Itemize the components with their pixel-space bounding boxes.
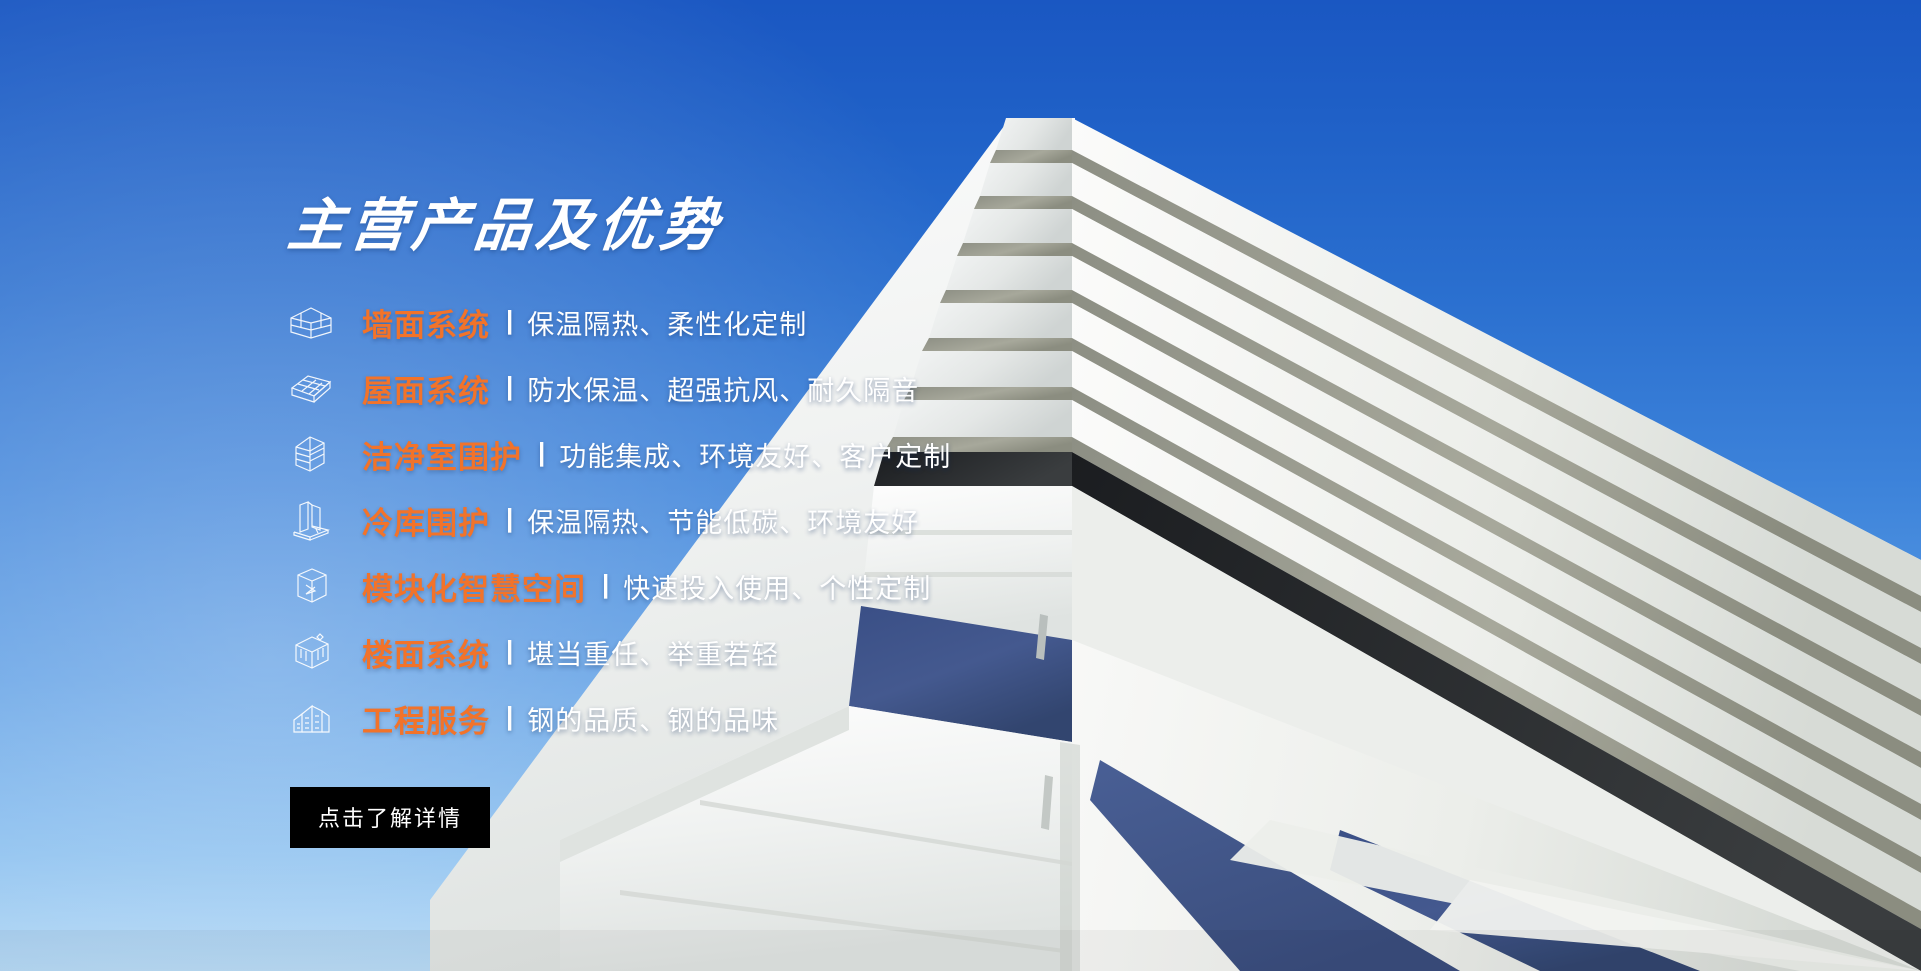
- floor-system-icon: [288, 629, 334, 675]
- feature-separator: |: [506, 371, 513, 402]
- feature-item-cold-storage[interactable]: 冷库围护 | 保温隔热、节能低碳、环境友好: [288, 487, 1288, 553]
- feature-name: 楼面系统: [362, 630, 490, 675]
- feature-separator: |: [506, 305, 513, 336]
- feature-name: 工程服务: [362, 696, 490, 741]
- roof-system-icon: [288, 365, 334, 411]
- modular-space-icon: [288, 563, 334, 609]
- feature-description: 堪当重任、举重若轻: [527, 633, 779, 672]
- feature-name: 屋面系统: [362, 366, 490, 411]
- feature-item-floor-system[interactable]: 楼面系统 | 堪当重任、举重若轻: [288, 619, 1288, 685]
- cleanroom-icon: [288, 431, 334, 477]
- feature-description: 保温隔热、柔性化定制: [527, 303, 807, 342]
- hero-banner: 主营产品及优势 墙面系统 | 保温隔热、柔性化定制: [0, 0, 1921, 971]
- feature-item-engineering-service[interactable]: 工程服务 | 钢的品质、钢的品味: [288, 685, 1288, 751]
- feature-separator: |: [602, 569, 609, 600]
- feature-name: 冷库围护: [362, 498, 490, 543]
- feature-name: 洁净室围护: [362, 432, 522, 477]
- feature-item-modular-space[interactable]: 模块化智慧空间 | 快速投入使用、个性定制: [288, 553, 1288, 619]
- feature-name: 墙面系统: [362, 300, 490, 345]
- engineering-service-icon: [288, 695, 334, 741]
- feature-separator: |: [506, 503, 513, 534]
- feature-separator: |: [506, 701, 513, 732]
- feature-description: 保温隔热、节能低碳、环境友好: [527, 501, 919, 540]
- feature-separator: |: [538, 437, 545, 468]
- feature-description: 钢的品质、钢的品味: [527, 699, 779, 738]
- cold-storage-icon: [288, 497, 334, 543]
- feature-item-cleanroom[interactable]: 洁净室围护 | 功能集成、环境友好、客户定制: [288, 421, 1288, 487]
- hero-content: 主营产品及优势 墙面系统 | 保温隔热、柔性化定制: [288, 198, 1288, 848]
- feature-description: 功能集成、环境友好、客户定制: [559, 435, 951, 474]
- feature-item-roof-system[interactable]: 屋面系统 | 防水保温、超强抗风、耐久隔音: [288, 355, 1288, 421]
- feature-name: 模块化智慧空间: [362, 564, 586, 609]
- feature-item-wall-system[interactable]: 墙面系统 | 保温隔热、柔性化定制: [288, 289, 1288, 355]
- feature-separator: |: [506, 635, 513, 666]
- page-title: 主营产品及优势: [285, 198, 1291, 255]
- wall-system-icon: [288, 299, 334, 345]
- learn-more-button[interactable]: 点击了解详情: [290, 787, 490, 848]
- feature-description: 防水保温、超强抗风、耐久隔音: [527, 369, 919, 408]
- feature-description: 快速投入使用、个性定制: [623, 567, 931, 606]
- feature-list: 墙面系统 | 保温隔热、柔性化定制 屋面系统: [288, 289, 1288, 751]
